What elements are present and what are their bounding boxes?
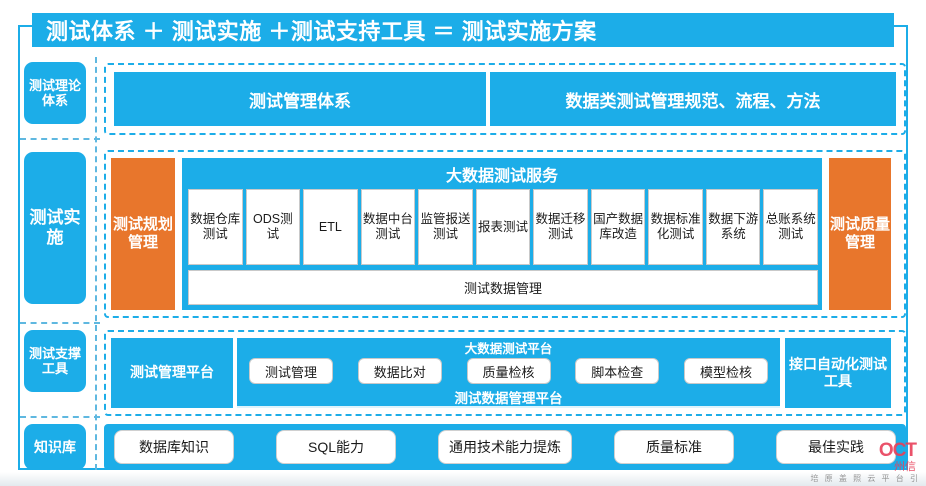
- impl-pillar-test-planning[interactable]: 测试规划管理: [111, 158, 175, 310]
- knowledge-pill[interactable]: SQL能力: [276, 430, 396, 464]
- platform-module-pill[interactable]: 数据比对: [358, 358, 442, 384]
- page-title-banner: 测试体系 ＋ 测试实施 ＋测试支持工具 ＝ 测试实施方案: [32, 13, 894, 47]
- big-data-test-platform-title: 大数据测试平台: [237, 339, 780, 356]
- knowledge-base-items: 数据库知识 SQL能力 通用技术能力提炼 质量标准 最佳实践: [114, 428, 896, 466]
- service-card[interactable]: 数据下游系统: [706, 189, 761, 265]
- knowledge-pill[interactable]: 数据库知识: [114, 430, 234, 464]
- theory-box-data-spec-label: 数据类测试管理规范、流程、方法: [566, 87, 821, 112]
- big-data-test-platform-panel: 大数据测试平台 测试管理 数据比对 质量检核 脚本检查 模型检核 测试数据管理平…: [237, 338, 780, 408]
- tools-test-management-platform-label: 测试管理平台: [130, 364, 214, 382]
- big-data-test-service-title: 大数据测试服务: [183, 161, 821, 187]
- tools-api-automation-label: 接口自动化测试工具: [785, 356, 891, 391]
- page-title: 测试体系 ＋ 测试实施 ＋测试支持工具 ＝ 测试实施方案: [46, 14, 597, 46]
- rail-vertical-divider: [95, 57, 97, 470]
- test-data-management-bar[interactable]: 测试数据管理: [188, 270, 818, 305]
- tools-api-automation[interactable]: 接口自动化测试工具: [785, 338, 891, 408]
- outer-frame-top-right-stub: [892, 25, 908, 27]
- theory-box-management-system-label: 测试管理体系: [249, 87, 351, 112]
- knowledge-pill[interactable]: 通用技术能力提炼: [438, 430, 572, 464]
- bottom-shadow: [0, 472, 926, 486]
- impl-pillar-test-quality[interactable]: 测试质量管理: [829, 158, 891, 310]
- row-divider-impl-tools: [20, 322, 100, 324]
- test-data-management-platform-title: 测试数据管理平台: [237, 387, 780, 406]
- rail-item-theory[interactable]: 测试理论体系: [24, 62, 86, 124]
- test-data-management-platform-underline: [237, 406, 780, 408]
- row-divider-theory-impl: [20, 138, 100, 140]
- rail-item-support-tools-label: 测试支撑工具: [24, 346, 86, 377]
- rail-item-implementation[interactable]: 测试实施: [24, 152, 86, 304]
- knowledge-pill[interactable]: 质量标准: [614, 430, 734, 464]
- service-card[interactable]: ETL: [303, 189, 358, 265]
- rail-item-knowledge-base[interactable]: 知识库: [24, 424, 86, 470]
- impl-pillar-test-quality-label: 测试质量管理: [829, 216, 891, 253]
- impl-pillar-test-planning-label: 测试规划管理: [111, 216, 175, 253]
- big-data-test-service-cards: 数据仓库测试 ODS测试 ETL 数据中台测试 监管报送测试 报表测试 数据迁移…: [188, 189, 818, 265]
- service-card[interactable]: 国产数据库改造: [591, 189, 646, 265]
- service-card[interactable]: 数据迁移测试: [533, 189, 588, 265]
- tools-test-management-platform[interactable]: 测试管理平台: [111, 338, 233, 408]
- rail-item-implementation-label: 测试实施: [24, 208, 86, 248]
- service-card[interactable]: 数据仓库测试: [188, 189, 243, 265]
- service-card[interactable]: 数据标准化测试: [648, 189, 703, 265]
- platform-module-pill[interactable]: 质量检核: [467, 358, 551, 384]
- platform-module-pill[interactable]: 模型检核: [684, 358, 768, 384]
- platform-module-pill[interactable]: 测试管理: [249, 358, 333, 384]
- big-data-test-service-panel: 大数据测试服务 数据仓库测试 ODS测试 ETL 数据中台测试 监管报送测试 报…: [182, 158, 822, 310]
- platform-module-pill[interactable]: 脚本检查: [575, 358, 659, 384]
- service-card[interactable]: 监管报送测试: [418, 189, 473, 265]
- service-card[interactable]: ODS测试: [246, 189, 301, 265]
- diagram-canvas: 测试体系 ＋ 测试实施 ＋测试支持工具 ＝ 测试实施方案 测试理论体系 测试实施…: [0, 0, 926, 486]
- theory-box-data-spec[interactable]: 数据类测试管理规范、流程、方法: [490, 72, 896, 126]
- service-card[interactable]: 数据中台测试: [361, 189, 416, 265]
- service-card[interactable]: 报表测试: [476, 189, 531, 265]
- theory-box-management-system[interactable]: 测试管理体系: [114, 72, 486, 126]
- service-card[interactable]: 总账系统测试: [763, 189, 818, 265]
- big-data-test-platform-modules: 测试管理 数据比对 质量检核 脚本检查 模型检核: [249, 357, 768, 385]
- rail-item-knowledge-base-label: 知识库: [34, 439, 76, 456]
- knowledge-pill[interactable]: 最佳实践: [776, 430, 896, 464]
- rail-item-support-tools[interactable]: 测试支撑工具: [24, 330, 86, 392]
- row-divider-tools-kb: [20, 416, 100, 418]
- rail-item-theory-label: 测试理论体系: [24, 78, 86, 109]
